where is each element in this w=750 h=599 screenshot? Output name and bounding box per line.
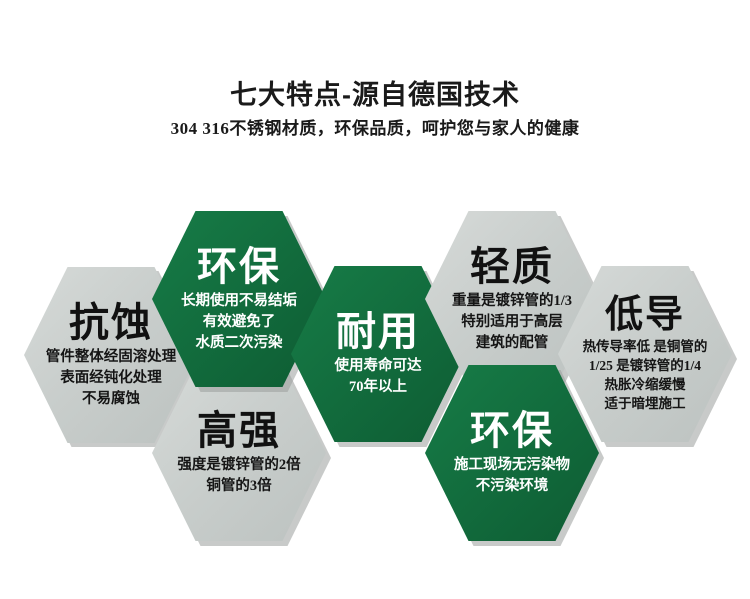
hex-lines-huanbao-bottom: 施工现场无污染物 不污染环境 bbox=[454, 455, 570, 497]
hex-title-huanbao-bottom: 环保 bbox=[470, 409, 554, 453]
hex-line: 重量是镀锌管的1/3 bbox=[452, 291, 572, 312]
hex-line: 管件整体经固溶处理 bbox=[46, 347, 177, 368]
hex-line: 有效避免了 bbox=[181, 312, 297, 333]
hex-line: 长期使用不易结垢 bbox=[181, 291, 297, 312]
hex-lines-qingzhi: 重量是镀锌管的1/3 特别适用于高层 建筑的配管 bbox=[452, 291, 572, 354]
hex-line: 建筑的配管 bbox=[452, 333, 572, 354]
hex-lines-huanbao-top: 长期使用不易结垢 有效避免了 水质二次污染 bbox=[181, 291, 297, 354]
hex-line: 强度是镀锌管的2倍 bbox=[177, 455, 300, 476]
hex-line: 铜管的3倍 bbox=[177, 476, 300, 497]
hex-lines-kangshi: 管件整体经固溶处理 表面经钝化处理 不易腐蚀 bbox=[46, 347, 177, 410]
hex-title-qingzhi: 轻质 bbox=[470, 245, 554, 289]
hex-line: 使用寿命可达 bbox=[335, 356, 422, 377]
hex-line: 施工现场无污染物 bbox=[454, 455, 570, 476]
hex-line: 不污染环境 bbox=[454, 476, 570, 497]
hex-title-huanbao-top: 环保 bbox=[197, 245, 281, 289]
hex-line: 1/25 是镀锌管的1/4 bbox=[583, 356, 708, 375]
hex-line: 热传导率低 是铜管的 bbox=[583, 337, 708, 356]
hex-lines-didao: 热传导率低 是铜管的 1/25 是镀锌管的1/4 热胀冷缩缓慢 适于暗埋施工 bbox=[583, 337, 708, 413]
hex-line: 特别适用于高层 bbox=[452, 312, 572, 333]
hex-line: 表面经钝化处理 bbox=[46, 368, 177, 389]
hex-lines-naiyong: 使用寿命可达 70年以上 bbox=[335, 356, 422, 398]
hex-title-didao: 低导 bbox=[605, 295, 685, 335]
hex-title-naiyong: 耐用 bbox=[336, 310, 420, 354]
hex-lines-gaoqiang: 强度是镀锌管的2倍 铜管的3倍 bbox=[177, 455, 300, 497]
hex-title-kangshi: 抗蚀 bbox=[69, 301, 153, 345]
hex-title-gaoqiang: 高强 bbox=[197, 409, 281, 453]
hex-line: 热胀冷缩缓慢 bbox=[583, 375, 708, 394]
hex-line: 适于暗埋施工 bbox=[583, 394, 708, 413]
hex-line: 不易腐蚀 bbox=[46, 389, 177, 410]
hex-line: 70年以上 bbox=[335, 377, 422, 398]
honeycomb-diagram: 抗蚀 管件整体经固溶处理 表面经钝化处理 不易腐蚀 高强 强度是镀锌管的2倍 铜… bbox=[0, 0, 750, 599]
hex-line: 水质二次污染 bbox=[181, 333, 297, 354]
